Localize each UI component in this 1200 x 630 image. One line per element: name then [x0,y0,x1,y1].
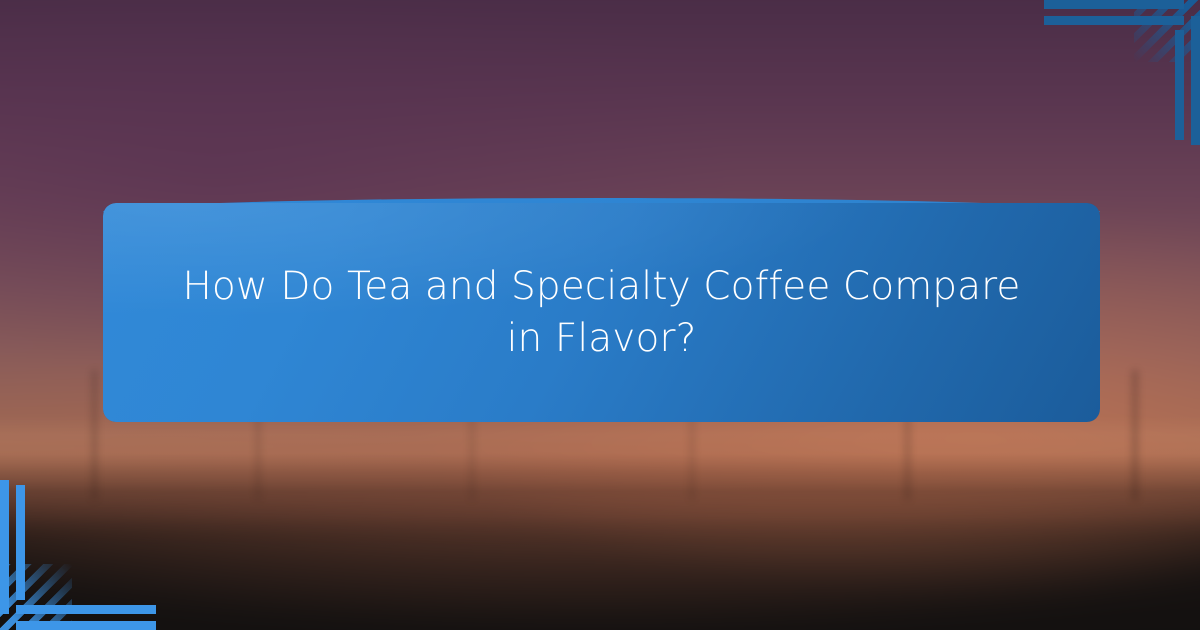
social-card-canvas: How Do Tea and Specialty Coffee Compare … [0,0,1200,630]
page-title: How Do Tea and Specialty Coffee Compare … [103,261,1100,364]
title-card: How Do Tea and Specialty Coffee Compare … [103,203,1100,422]
